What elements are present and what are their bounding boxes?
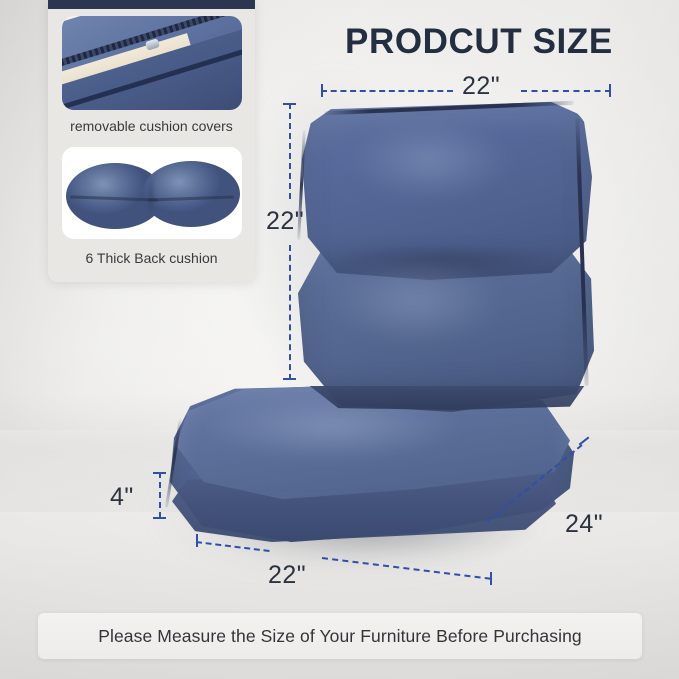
back-cushion-upper-highlight [344,122,534,218]
dimension-cap-bottom [153,517,166,519]
back-cushion-bottom-edge [304,386,590,410]
dimension-label-back-height: 22" [266,207,304,236]
dimension-line-right-segment [521,90,611,92]
back-cushion-lower-highlight [332,260,532,360]
zipper-closeup-photo [62,16,242,110]
dimension-line [159,472,161,518]
page-title: PRODCUT SIZE [345,22,613,62]
dimension-label-seat-depth: 24" [565,510,603,539]
feature-panel: removable cushion covers 6 Thick Back cu… [48,0,255,282]
dimension-label-back-width: 22" [462,72,500,101]
cushion-center-seam [148,165,154,225]
cushion-lobe-right [142,161,240,227]
dimension-cap-right [609,84,611,97]
dimension-label-seat-thickness: 4" [110,483,134,512]
product-size-infographic: PRODCUT SIZE 22" 22" 4" 22" 24" [0,0,679,679]
dimension-cap-bottom [283,378,296,380]
dimension-line-lower-segment [289,245,291,380]
measure-notice-text: Please Measure the Size of Your Furnitur… [98,626,582,647]
dimension-line-upper-segment [289,103,291,199]
feature-caption-removable-covers: removable cushion covers [48,118,255,134]
feature-panel-top-bar [48,0,255,9]
dimension-line-left-segment [321,90,453,92]
back-cushion [298,100,598,416]
measure-notice-banner: Please Measure the Size of Your Furnitur… [38,613,642,659]
dimension-cap-right [490,572,492,585]
back-cushion-closeup-photo [62,147,242,239]
dimension-label-seat-width: 22" [268,561,306,590]
feature-caption-thick-back-cushion: 6 Thick Back cushion [48,250,255,266]
